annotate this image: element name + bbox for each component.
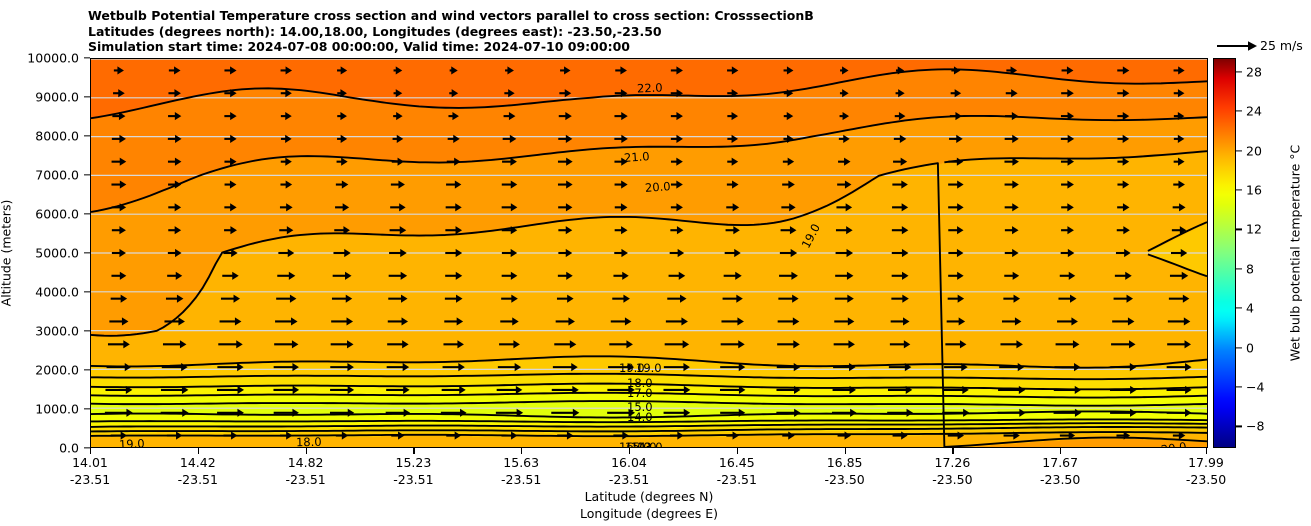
x-axis-tick-mark xyxy=(1060,448,1061,454)
y-axis-tick-mark xyxy=(84,330,90,331)
x-axis-tick-mark xyxy=(1206,448,1207,454)
colorbar-tick-mark xyxy=(1236,347,1242,348)
y-axis-tick-mark xyxy=(84,252,90,253)
x-axis-tick-mark xyxy=(413,448,414,454)
y-axis-tick-label: 9000.0 xyxy=(35,90,79,105)
x-axis-tick-label-latitude: 14.01 xyxy=(72,455,108,470)
x-axis-tick-label-longitude: -23.50 xyxy=(932,472,972,487)
contour-label: 13.0 xyxy=(637,440,663,448)
contour-label: 21.0 xyxy=(624,149,651,165)
y-axis-label: Altitude (meters) xyxy=(0,200,14,307)
contour-label: 20.0 xyxy=(645,179,672,195)
contour-label: 19.0 xyxy=(119,436,145,448)
y-axis-tick-mark xyxy=(84,135,90,136)
chart-title-line2: Latitudes (degrees north): 14.00,18.00, … xyxy=(88,24,1188,40)
y-axis-tick-mark xyxy=(84,213,90,214)
contour-label: 18.0 xyxy=(296,435,322,448)
colorbar-tick-label: 8 xyxy=(1246,261,1254,276)
wind-vector-key: 25 m/s xyxy=(1216,36,1311,56)
x-axis-tick-label-longitude: -23.51 xyxy=(70,472,110,487)
colorbar-tick-label: 20 xyxy=(1246,143,1262,158)
x-axis-tick-label-latitude: 17.26 xyxy=(934,455,970,470)
x-axis-tick-label-latitude: 17.99 xyxy=(1188,455,1224,470)
contour-label: 20.0 xyxy=(1160,439,1187,448)
x-axis-tick-mark xyxy=(845,448,846,454)
colorbar-gradient xyxy=(1214,59,1235,447)
y-axis-tick-mark xyxy=(84,174,90,175)
x-axis-tick-label-latitude: 17.67 xyxy=(1042,455,1078,470)
x-axis-tick-label-latitude: 14.42 xyxy=(180,455,216,470)
colorbar-tick-label: 0 xyxy=(1246,340,1254,355)
colorbar-tick-mark xyxy=(1236,111,1242,112)
y-axis-tick-mark xyxy=(84,369,90,370)
right-arrow-icon xyxy=(1216,39,1258,53)
y-axis-tick-label: 1000.0 xyxy=(35,402,79,417)
x-axis-tick-mark xyxy=(629,448,630,454)
contour-labels-layer: 22.021.020.019.019.019.018.017.015.014.0… xyxy=(91,59,1207,447)
x-axis-label-latitude: Latitude (degrees N) xyxy=(585,489,714,504)
y-axis-tick-label: 0.0 xyxy=(59,441,79,456)
colorbar-tick-label: 24 xyxy=(1246,104,1262,119)
x-axis-tick-label-latitude: 16.85 xyxy=(827,455,863,470)
colorbar-title: Wet bulb potential temperature °C xyxy=(1288,145,1303,362)
y-axis: 0.01000.02000.03000.04000.05000.06000.07… xyxy=(0,58,90,448)
x-axis-tick-label-longitude: -23.51 xyxy=(501,472,541,487)
y-axis-tick-label: 6000.0 xyxy=(35,207,79,222)
x-axis-label-longitude: Longitude (degrees E) xyxy=(580,506,718,521)
contour-label: 14.0 xyxy=(627,410,653,424)
colorbar-tick-label: 4 xyxy=(1246,301,1254,316)
x-axis-tick-label-longitude: -23.51 xyxy=(717,472,757,487)
colorbar-tick-mark xyxy=(1236,71,1242,72)
colorbar-tick-mark xyxy=(1236,386,1242,387)
y-axis-tick-label: 8000.0 xyxy=(35,129,79,144)
chart-title-block: Wetbulb Potential Temperature cross sect… xyxy=(88,8,1188,55)
cross-section-plot[interactable]: 22.021.020.019.019.019.018.017.015.014.0… xyxy=(90,58,1208,448)
x-axis-tick-label-latitude: 16.04 xyxy=(611,455,647,470)
x-axis-tick-label-longitude: -23.51 xyxy=(393,472,433,487)
chart-title-line3: Simulation start time: 2024-07-08 00:00:… xyxy=(88,39,1188,55)
y-axis-tick-label: 4000.0 xyxy=(35,285,79,300)
colorbar-tick-label: −8 xyxy=(1246,419,1264,434)
x-axis-tick-label-longitude: -23.50 xyxy=(1040,472,1080,487)
x-axis-tick-mark xyxy=(737,448,738,454)
x-axis-tick-label-longitude: -23.50 xyxy=(824,472,864,487)
colorbar-tick-mark xyxy=(1236,426,1242,427)
colorbar-tick-mark xyxy=(1236,268,1242,269)
x-axis-tick-mark xyxy=(90,448,91,454)
colorbar-tick-label: 12 xyxy=(1246,222,1262,237)
colorbar-tick-label: 28 xyxy=(1246,64,1262,79)
y-axis-tick-label: 5000.0 xyxy=(35,246,79,261)
y-axis-tick-label: 3000.0 xyxy=(35,324,79,339)
contour-label: 19.0 xyxy=(636,361,662,375)
x-axis-tick-mark xyxy=(952,448,953,454)
y-axis-tick-mark xyxy=(84,291,90,292)
contour-label: 19.0 xyxy=(799,221,823,250)
contour-label: 22.0 xyxy=(637,81,663,96)
x-axis-tick-label-longitude: -23.51 xyxy=(178,472,218,487)
x-axis-tick-label-latitude: 15.63 xyxy=(503,455,539,470)
colorbar-tick-label: −4 xyxy=(1246,379,1264,394)
colorbar-tick-mark xyxy=(1236,229,1242,230)
y-axis-tick-label: 10000.0 xyxy=(27,51,79,66)
x-axis-tick-label-longitude: -23.51 xyxy=(609,472,649,487)
y-axis-tick-mark xyxy=(84,408,90,409)
x-axis-tick-mark xyxy=(198,448,199,454)
x-axis-tick-label-longitude: -23.51 xyxy=(285,472,325,487)
y-axis-tick-mark xyxy=(84,57,90,58)
x-axis-tick-mark xyxy=(306,448,307,454)
x-axis-tick-label-latitude: 15.23 xyxy=(395,455,431,470)
y-axis-tick-label: 7000.0 xyxy=(35,168,79,183)
colorbar-tick-mark xyxy=(1236,189,1242,190)
chart-title-line1: Wetbulb Potential Temperature cross sect… xyxy=(88,8,1188,24)
x-axis-tick-label-latitude: 16.45 xyxy=(719,455,755,470)
colorbar-tick-label: 16 xyxy=(1246,182,1262,197)
x-axis-tick-label-longitude: -23.50 xyxy=(1186,472,1226,487)
colorbar-tick-mark xyxy=(1236,150,1242,151)
y-axis-tick-label: 2000.0 xyxy=(35,363,79,378)
colorbar-tick-mark xyxy=(1236,308,1242,309)
x-axis-tick-label-latitude: 14.82 xyxy=(288,455,324,470)
x-axis-tick-mark xyxy=(521,448,522,454)
contour-label: 17.0 xyxy=(627,386,653,400)
wind-vector-key-label: 25 m/s xyxy=(1260,38,1303,53)
y-axis-tick-mark xyxy=(84,96,90,97)
colorbar[interactable] xyxy=(1213,58,1236,448)
